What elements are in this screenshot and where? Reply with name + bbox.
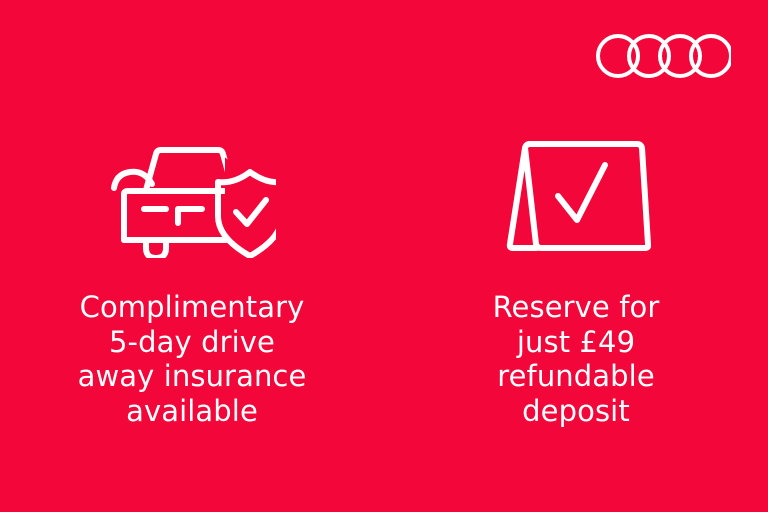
- feature-item-deposit: Reserve for just £49 refundable deposit: [384, 0, 768, 428]
- tent-card-check-icon: [501, 132, 651, 258]
- car-shield-icon: [108, 132, 276, 258]
- promo-banner: Complimentary 5-day drive away insurance…: [0, 0, 768, 512]
- feature-list: Complimentary 5-day drive away insurance…: [0, 0, 768, 512]
- feature-item-insurance: Complimentary 5-day drive away insurance…: [0, 0, 384, 428]
- feature-caption-deposit: Reserve for just £49 refundable deposit: [493, 290, 660, 428]
- feature-caption-insurance: Complimentary 5-day drive away insurance…: [78, 290, 307, 428]
